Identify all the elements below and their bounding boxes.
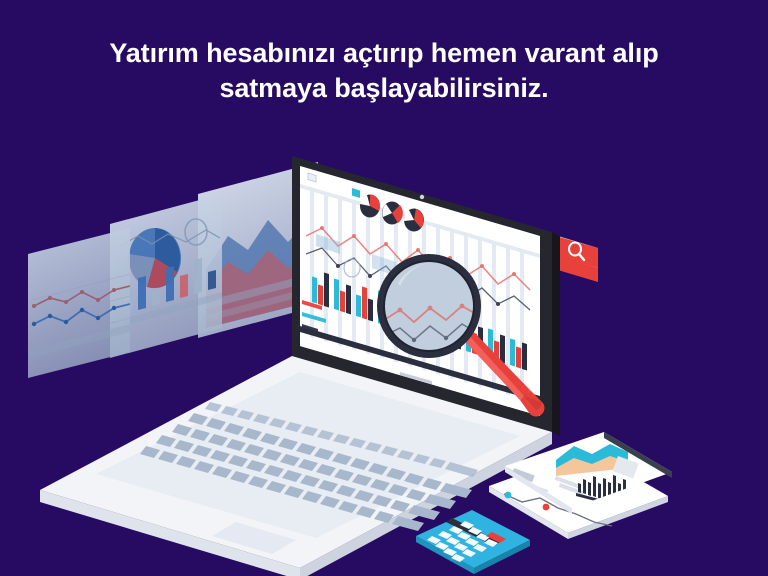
illustration-isometric-financial-dashboard — [0, 150, 768, 576]
floating-panel-front — [28, 228, 130, 378]
marker-red — [543, 504, 550, 511]
marker-teal — [505, 492, 512, 499]
laptop — [40, 156, 560, 576]
promo-banner: Yatırım hesabınızı açtırıp hemen varant … — [0, 0, 768, 576]
webcam-icon — [420, 195, 424, 199]
page-title: Yatırım hesabınızı açtırıp hemen varant … — [0, 36, 768, 106]
